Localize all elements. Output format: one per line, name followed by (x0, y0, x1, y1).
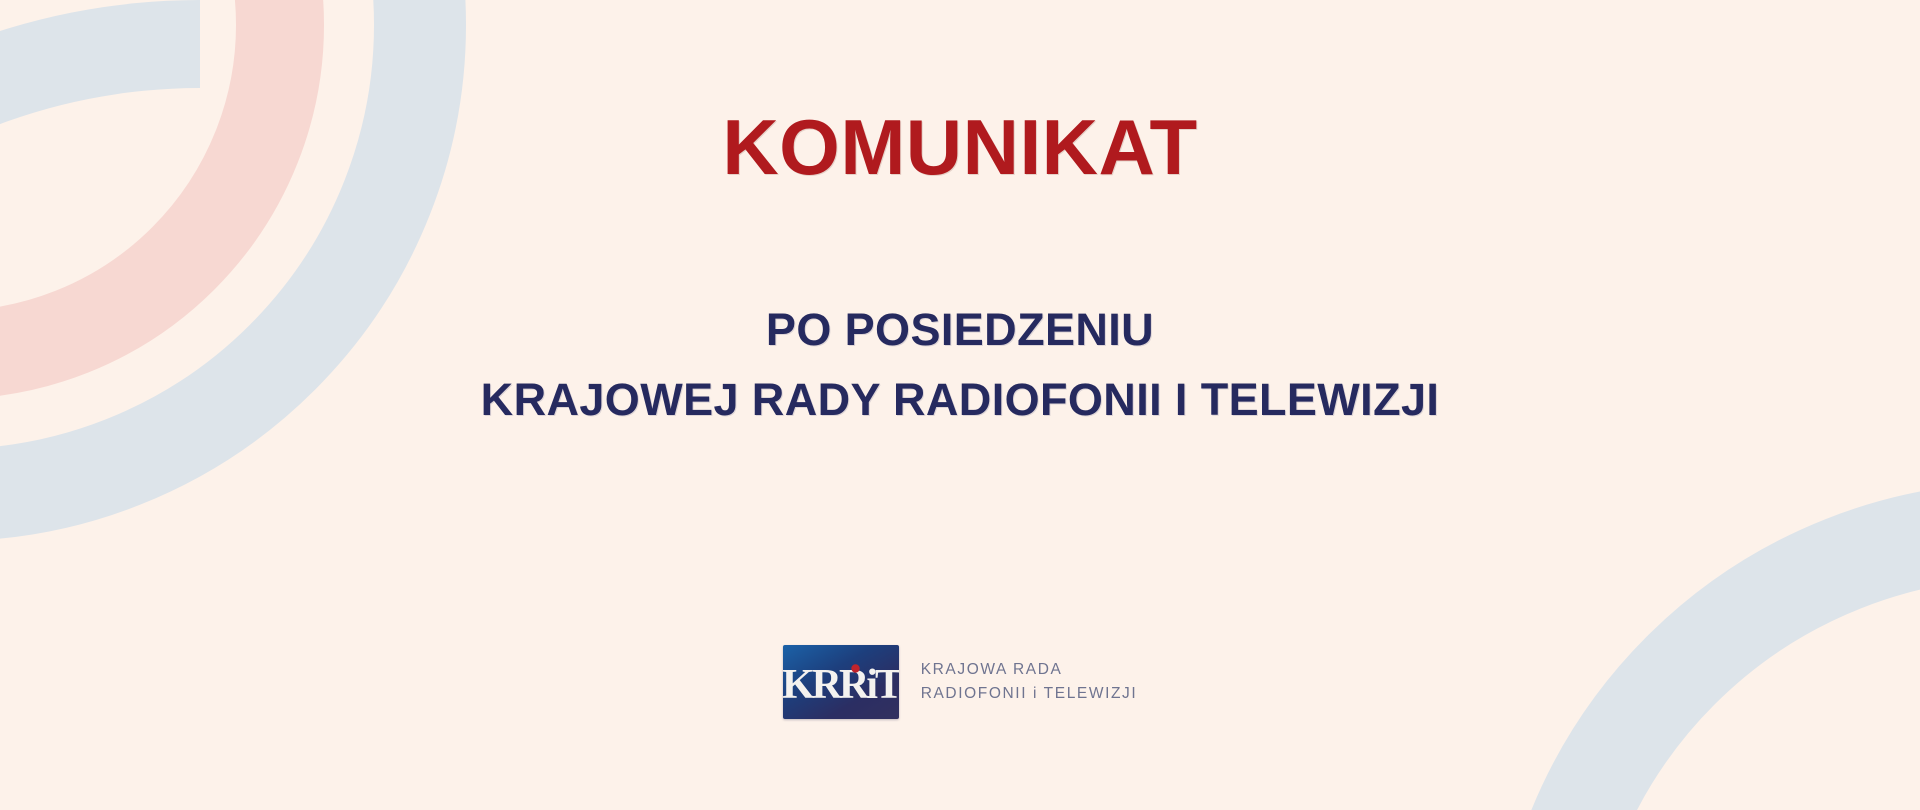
subtitle-line-1: PO POSIEDZENIU (0, 295, 1920, 365)
krrit-wordmark: KRAJOWA RADA RADIOFONII i TELEWIZJI (921, 658, 1138, 705)
krrit-i-dot-icon (851, 664, 859, 672)
page-title: KOMUNIKAT (0, 108, 1920, 186)
krrit-logo: KRRiT KRAJOWA RADA RADIOFONII i TELEWIZJ… (0, 645, 1920, 719)
slide-content: KOMUNIKAT PO POSIEDZENIU KRAJOWEJ RADY R… (0, 0, 1920, 810)
krrit-wordmark-line-2: RADIOFONII i TELEWIZJI (921, 682, 1138, 706)
subtitle-block: PO POSIEDZENIU KRAJOWEJ RADY RADIOFONII … (0, 295, 1920, 435)
krrit-wordmark-line-1: KRAJOWA RADA (921, 658, 1138, 682)
logo-inner: KRRiT KRAJOWA RADA RADIOFONII i TELEWIZJ… (783, 645, 1138, 719)
komunikat-slide: KOMUNIKAT PO POSIEDZENIU KRAJOWEJ RADY R… (0, 0, 1920, 810)
krrit-logo-mark: KRRiT (783, 645, 899, 719)
krrit-monogram-text: KRRiT (783, 662, 899, 708)
subtitle-line-2: KRAJOWEJ RADY RADIOFONII I TELEWIZJI (0, 365, 1920, 435)
